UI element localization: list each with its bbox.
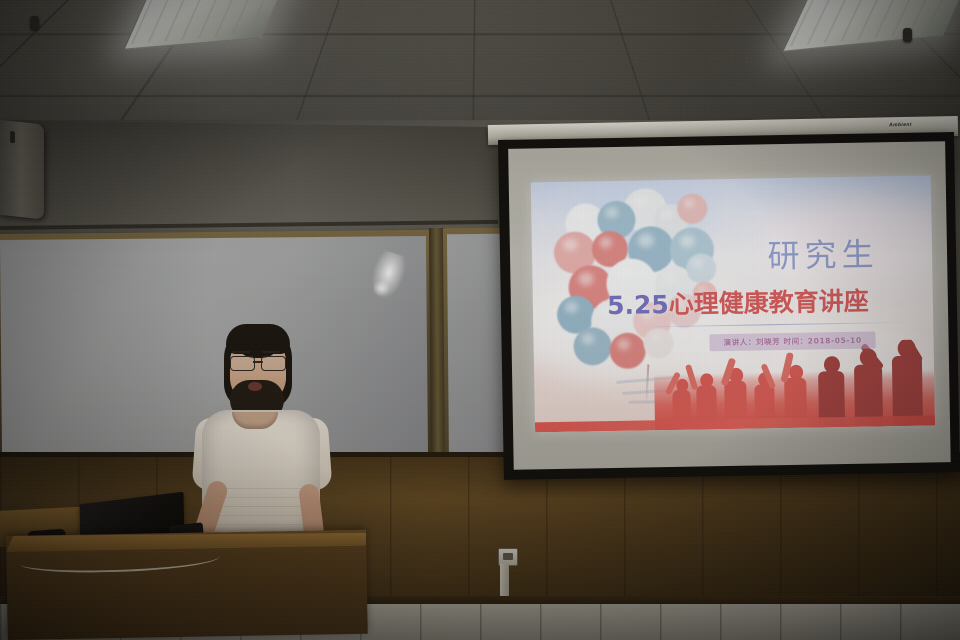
screen-brand-logo: Ambient xyxy=(889,122,912,128)
mouth xyxy=(248,382,262,391)
eyebrow-left xyxy=(232,351,250,353)
projected-slide: 研究生 5.25心理健康教育讲座 演讲人：刘晓芳 时间：2018-05-10 xyxy=(531,175,935,432)
air-conditioner-unit xyxy=(0,120,44,220)
whiteboard-glare xyxy=(364,248,411,306)
projector-screen-surface: 研究生 5.25心理健康教育讲座 演讲人：刘晓芳 时间：2018-05-10 xyxy=(508,141,951,470)
slide-meta-badge: 演讲人：刘晓芳 时间：2018-05-10 xyxy=(709,331,875,351)
whiteboard-surface-right xyxy=(447,234,507,466)
sprinkler-head-left xyxy=(30,16,39,30)
eyebrow-right xyxy=(262,351,280,353)
classroom-photo: Ambient xyxy=(0,0,960,640)
projector-screen: 研究生 5.25心理健康教育讲座 演讲人：刘晓芳 时间：2018-05-10 xyxy=(498,132,960,480)
whiteboard-glare-secondary xyxy=(372,280,390,296)
slide-bottom-band xyxy=(535,415,935,432)
glasses-lens-right xyxy=(261,356,286,371)
slide-subtitle-text: 心理健康教育讲座 xyxy=(668,287,868,319)
sprinkler-head-right xyxy=(903,28,912,42)
crowd-silhouette-graphic xyxy=(534,339,935,432)
glasses-lens-left xyxy=(230,356,255,371)
slide-title: 研究生 xyxy=(720,238,927,274)
ceiling xyxy=(0,0,960,132)
hair-front xyxy=(226,324,290,354)
slide-subtitle-number: 5.25 xyxy=(607,290,669,320)
glasses-icon xyxy=(229,356,287,369)
